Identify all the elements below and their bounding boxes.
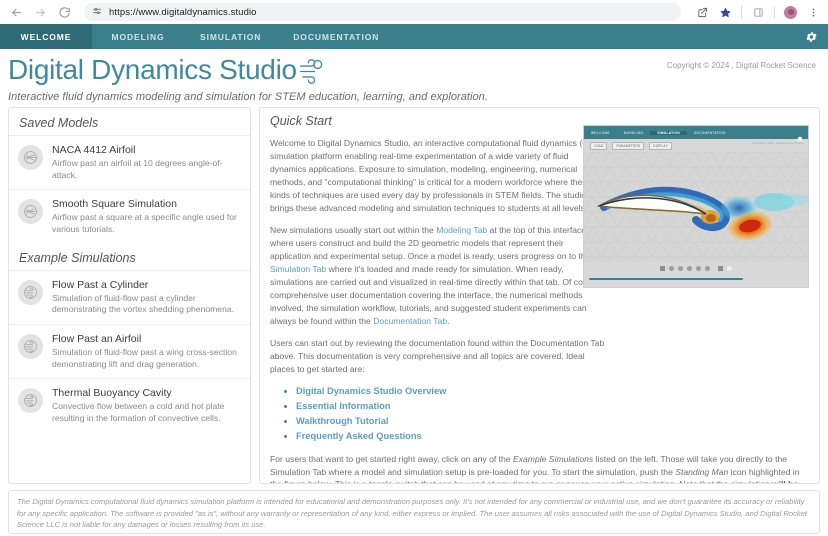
preview-stop-icon	[660, 266, 665, 271]
documentation-tab-link[interactable]: Documentation Tab	[373, 316, 447, 326]
copyright-text: Copyright © 2024 , Digital Rocket Scienc…	[667, 61, 816, 70]
share-icon[interactable]	[695, 5, 709, 19]
page-tagline: Interactive fluid dynamics modeling and …	[8, 91, 816, 103]
preview-gear-icon	[797, 129, 803, 135]
preview-progress-track	[589, 278, 743, 280]
star-icon[interactable]	[718, 5, 732, 19]
wind-flow-icon	[298, 59, 325, 89]
thermal-cavity-icon	[18, 388, 43, 413]
quickstart-paragraph-3: Users can start out by reviewing the doc…	[270, 337, 606, 376]
preview-skip-forward-icon	[705, 266, 710, 271]
list-item: Essential Information	[296, 399, 606, 414]
list-item-description: Simulation of fluid-flow past a cylinder…	[52, 293, 240, 316]
p4-text-a: For users that want to get started right…	[270, 454, 513, 464]
preview-progress-bar	[584, 275, 808, 285]
list-item[interactable]: Flow Past a Cylinder Simulation of fluid…	[9, 270, 250, 324]
quickstart-paragraph-2: New simulations usually start out within…	[270, 224, 606, 329]
preview-step-forward-icon	[696, 266, 701, 271]
sidebar-panel: Saved Models NACA 4412 Airfoil Airflow p…	[8, 107, 251, 484]
list-item[interactable]: Flow Past an Airfoil Simulation of fluid…	[9, 324, 250, 378]
preview-playback-controls	[584, 262, 808, 275]
toolbar-divider-2	[774, 6, 775, 19]
quickstart-panel: Quick Start Welcome to Digital Dynamics …	[259, 107, 820, 484]
preview-standing-man-icon	[727, 266, 732, 271]
simulation-tab-link[interactable]: Simulation Tab	[270, 264, 326, 274]
quickstart-paragraph-4: For users that want to get started right…	[270, 453, 809, 484]
address-bar[interactable]: https://www.digitaldynamics.studio	[84, 3, 681, 21]
tab-documentation[interactable]: DOCUMENTATION	[277, 24, 395, 49]
preview-nav-bar: WELCOME MODELING SIMULATION DOCUMENTATIO…	[584, 126, 808, 139]
preview-button-display: DISPLAY	[649, 142, 672, 150]
preview-tab-simulation: SIMULATION	[650, 131, 687, 135]
list-item-text: Flow Past an Airfoil Simulation of fluid…	[52, 333, 240, 370]
p4-emphasis-example-simulations: Example Simulations	[513, 454, 593, 464]
doc-link-overview[interactable]: Digital Dynamics Studio Overview	[296, 386, 446, 396]
preview-tab-documentation: DOCUMENTATION	[687, 131, 733, 135]
tune-icon[interactable]	[92, 3, 102, 21]
preview-button-parameters: PARAMETERS	[612, 142, 644, 150]
simulation-preview-image: WELCOME MODELING SIMULATION DOCUMENTATIO…	[583, 125, 809, 288]
tab-welcome[interactable]: WELCOME	[0, 24, 92, 49]
browser-actions	[695, 5, 820, 19]
list-item[interactable]: Smooth Square Simulation Airflow past a …	[9, 189, 250, 243]
preview-step-back-icon	[678, 266, 683, 271]
p4-emphasis-standing-man: Standing Man	[675, 467, 728, 477]
list-item-text: Flow Past a Cylinder Simulation of fluid…	[52, 279, 240, 316]
toolbar-divider	[741, 6, 742, 19]
kebab-menu-icon[interactable]	[806, 5, 820, 19]
list-item-text: NACA 4412 Airfoil Airflow past an airfoi…	[52, 144, 240, 181]
preview-tab-modeling: MODELING	[617, 131, 651, 135]
preview-toolbar: LOAD PARAMETERS DISPLAY Copyright © 2024…	[584, 139, 808, 152]
modeling-tab-link[interactable]: Modeling Tab	[436, 225, 487, 235]
list-item: Digital Dynamics Studio Overview	[296, 384, 606, 399]
preview-button-load: LOAD	[590, 142, 607, 150]
doc-link-walkthrough-tutorial[interactable]: Walkthrough Tutorial	[296, 416, 388, 426]
list-item-text: Smooth Square Simulation Airflow past a …	[52, 198, 240, 235]
list-item-text: Thermal Buoyancy Cavity Convective flow …	[52, 387, 240, 424]
example-simulations-heading: Example Simulations	[9, 244, 250, 270]
tab-simulation[interactable]: SIMULATION	[184, 24, 277, 49]
reload-icon[interactable]	[56, 4, 72, 20]
airfoil-model-icon	[18, 145, 43, 170]
airfoil-vorticity-visualization	[584, 152, 808, 262]
saved-models-heading: Saved Models	[9, 114, 250, 135]
flow-cylinder-icon	[18, 280, 43, 305]
disclaimer-text: The Digital Dynamics computational fluid…	[17, 496, 811, 531]
preview-canvas	[584, 152, 808, 262]
page-header: Digital Dynamics Studio Interactive flui…	[0, 49, 828, 107]
list-item-title: Flow Past an Airfoil	[52, 333, 240, 346]
list-item-title: Thermal Buoyancy Cavity	[52, 387, 240, 400]
page-title: Digital Dynamics Studio	[8, 55, 297, 84]
back-arrow-icon[interactable]	[8, 4, 24, 20]
main-content: Saved Models NACA 4412 Airfoil Airflow p…	[0, 107, 828, 484]
list-item-title: Smooth Square Simulation	[52, 198, 240, 211]
list-item: Walkthrough Tutorial	[296, 414, 606, 429]
list-item-description: Airflow past an airfoil at 10 degrees an…	[52, 158, 240, 181]
p2-text-d: .	[447, 316, 449, 326]
list-item[interactable]: Thermal Buoyancy Cavity Convective flow …	[9, 378, 250, 432]
gear-icon[interactable]	[805, 30, 818, 43]
preview-play-icon	[687, 266, 692, 271]
nav-tabs: WELCOME MODELING SIMULATION DOCUMENTATIO…	[0, 24, 395, 49]
list-item-description: Convective flow between a cold and hot p…	[52, 401, 240, 424]
list-item-title: Flow Past a Cylinder	[52, 279, 240, 292]
list-item[interactable]: NACA 4412 Airfoil Airflow past an airfoi…	[9, 135, 250, 189]
quickstart-paragraph-1: Welcome to Digital Dynamics Studio, an i…	[270, 137, 606, 215]
browser-toolbar: https://www.digitaldynamics.studio	[0, 0, 828, 24]
preview-copyright: Copyright © 2024 , Digital Rocket Scienc…	[752, 141, 804, 145]
forward-arrow-icon[interactable]	[32, 4, 48, 20]
side-panel-icon[interactable]	[751, 5, 765, 19]
list-item-description: Airflow past a square at a specific angl…	[52, 212, 240, 235]
list-item-description: Simulation of fluid-flow past a wing cro…	[52, 347, 240, 370]
doc-link-faq[interactable]: Frequently Asked Questions	[296, 431, 422, 441]
preview-reset-icon	[718, 266, 723, 271]
preview-tab-welcome: WELCOME	[584, 131, 617, 135]
doc-link-essential-information[interactable]: Essential Information	[296, 401, 391, 411]
flow-airfoil-icon	[18, 334, 43, 359]
tab-modeling[interactable]: MODELING	[92, 24, 184, 49]
address-bar-url: https://www.digitaldynamics.studio	[109, 7, 257, 18]
square-model-icon	[18, 199, 43, 224]
app-navigation-bar: WELCOME MODELING SIMULATION DOCUMENTATIO…	[0, 24, 828, 49]
doc-links-list: Digital Dynamics Studio Overview Essenti…	[270, 384, 606, 444]
list-item-title: NACA 4412 Airfoil	[52, 144, 240, 157]
list-item: Frequently Asked Questions	[296, 429, 606, 444]
preview-skip-back-icon	[669, 266, 674, 271]
quickstart-body: Welcome to Digital Dynamics Studio, an i…	[270, 137, 606, 444]
p2-text-a: New simulations usually start out within…	[270, 225, 436, 235]
profile-avatar-icon[interactable]	[784, 6, 797, 19]
disclaimer-footer: The Digital Dynamics computational fluid…	[8, 490, 820, 534]
